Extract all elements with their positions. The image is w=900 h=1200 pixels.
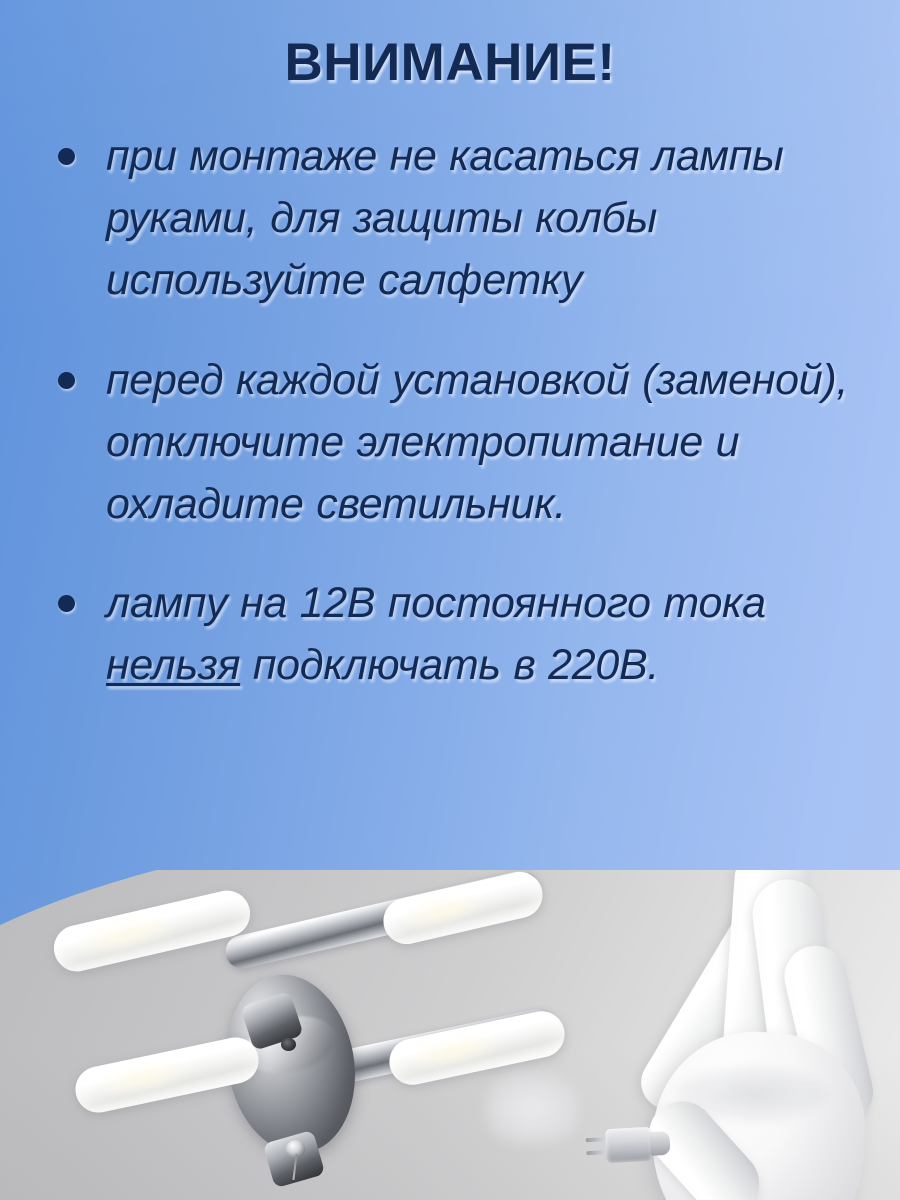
bullet-text-lead: лампу на 12В постоянного тока — [106, 579, 766, 627]
list-item: лампу на 12В постоянного тока нельзя под… — [58, 573, 898, 697]
bullet-dot-icon — [58, 372, 75, 389]
halogen-capsule-bulb — [589, 1126, 669, 1164]
bullet-text: перед каждой установкой (заменой), отклю… — [106, 350, 898, 536]
attention-poster: ВНИМАНИЕ! при монтаже не касаться лампы … — [0, 0, 900, 1200]
page-title: ВНИМАНИЕ! — [0, 32, 900, 93]
list-item: при монтаже не касаться лампы руками, дл… — [58, 126, 898, 312]
bulb-body — [605, 1127, 653, 1163]
bullet-text: лампу на 12В постоянного тока нельзя под… — [106, 573, 898, 697]
warning-bullet-list: при монтаже не касаться лампы руками, дл… — [58, 126, 898, 735]
bullet-dot-icon — [58, 148, 75, 165]
bullet-text: при монтаже не касаться лампы руками, дл… — [106, 126, 898, 312]
product-photo — [0, 870, 900, 1200]
gloved-hand — [580, 870, 900, 1200]
sconce-screw — [281, 1038, 296, 1051]
bulb-pin-upper — [586, 1137, 606, 1142]
bullet-text-tail: подключать в 220В. — [240, 641, 659, 689]
list-item: перед каждой установкой (заменой), отклю… — [58, 350, 898, 536]
chrome-wall-sconce — [118, 886, 548, 1200]
bulb-pin-lower — [586, 1150, 606, 1155]
bullet-dot-icon — [58, 595, 75, 612]
bulb-tip — [649, 1131, 670, 1156]
lamp-tube-lower-right — [385, 1007, 569, 1089]
bullet-text-emphasis: нельзя — [106, 641, 240, 689]
